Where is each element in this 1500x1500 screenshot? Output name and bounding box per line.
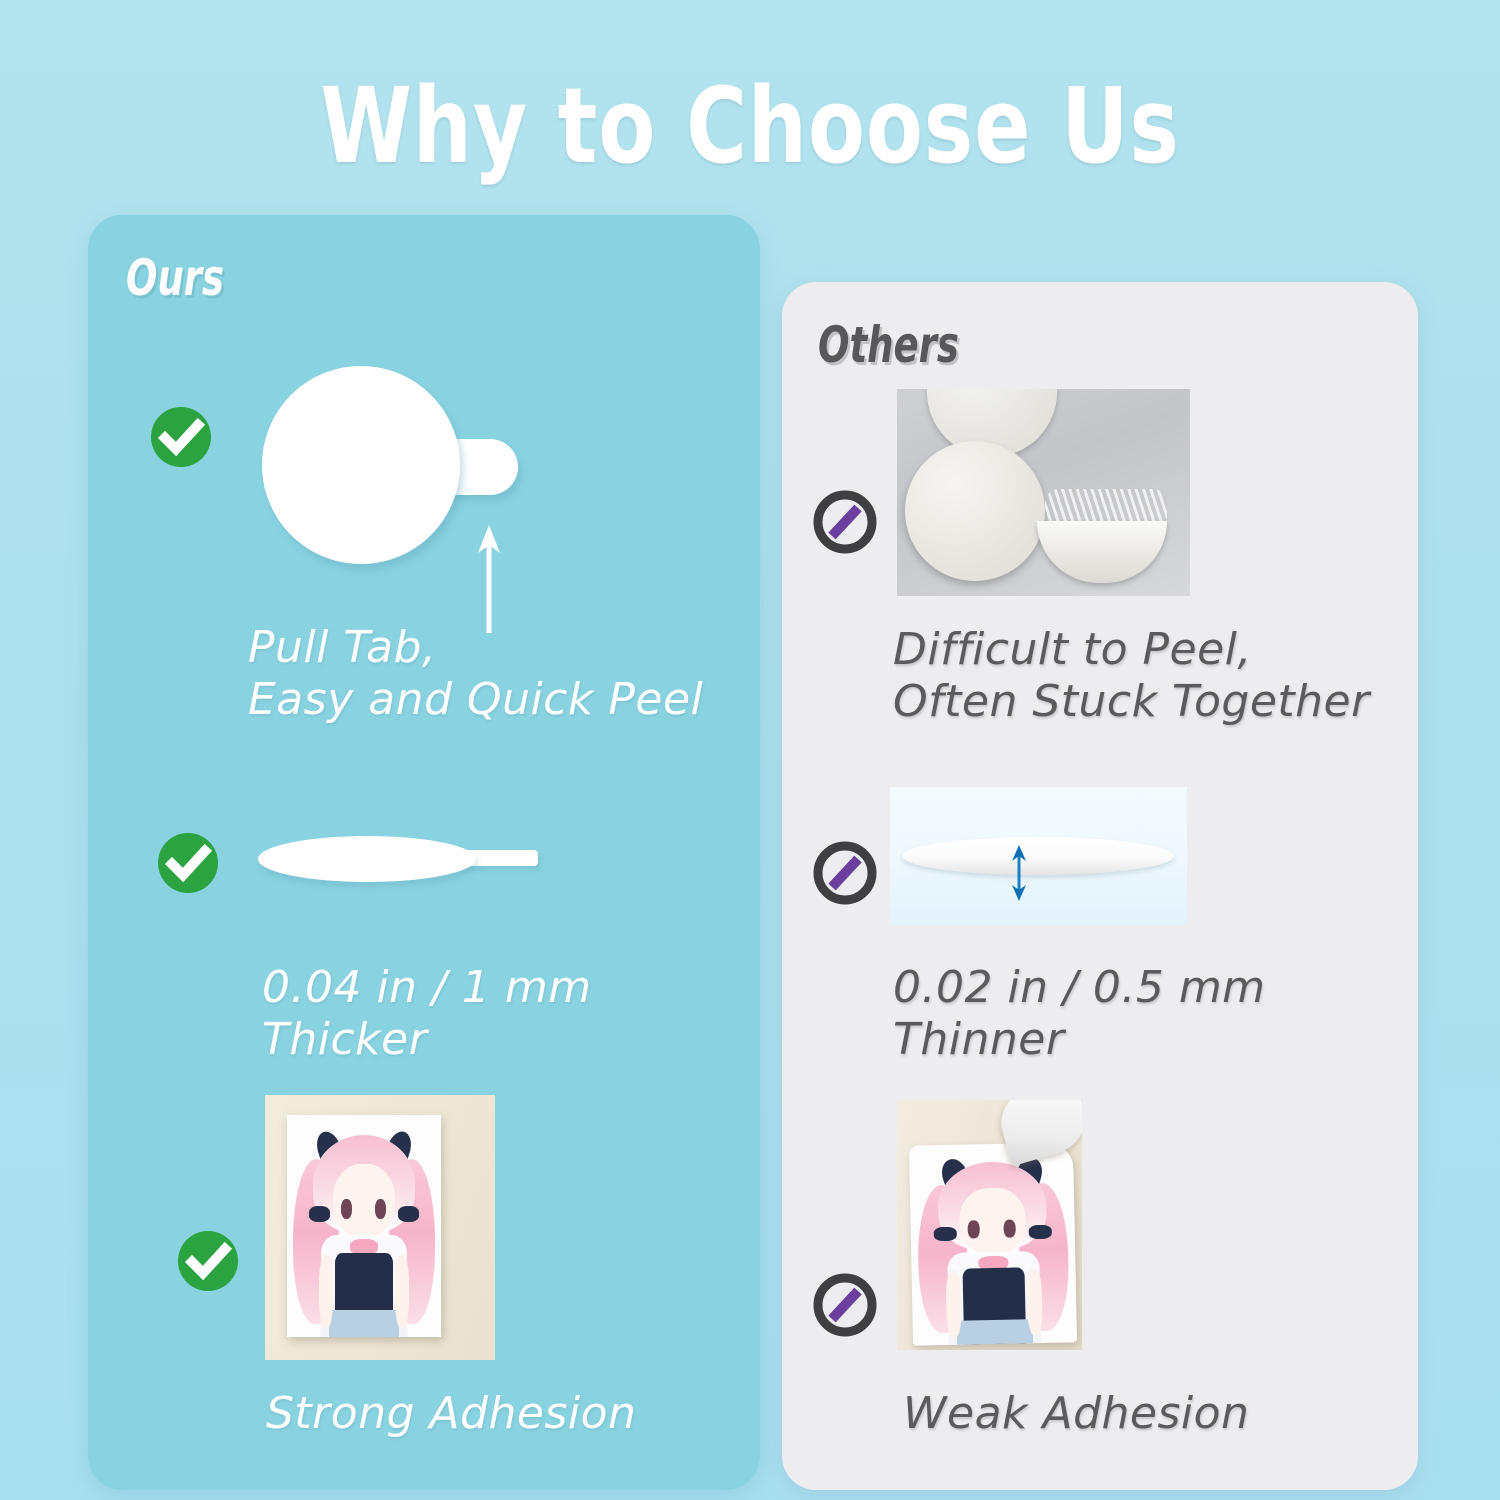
anime-girl-illustration <box>909 1142 1077 1345</box>
photo-stuck-sticker-discs <box>897 389 1190 596</box>
feature-text-strong-adhesion: Strong Adhesion <box>266 1388 636 1440</box>
anime-poster-peeling <box>909 1142 1077 1345</box>
card-label-others: Others <box>818 320 959 370</box>
no-entry-icon <box>812 489 878 555</box>
feature-text-ours-thickness: 0.04 in / 1 mm Thicker <box>262 962 592 1066</box>
curled-disc <box>1037 521 1167 583</box>
anime-poster-flat <box>287 1115 441 1337</box>
thick-disc-side-view-graphic <box>258 832 538 888</box>
no-entry-icon <box>812 840 878 906</box>
feature-text-pull-tab: Pull Tab, Easy and Quick Peel <box>248 622 703 726</box>
feature-text-others-thickness: 0.02 in / 0.5 mm Thinner <box>893 962 1266 1066</box>
check-circle-icon <box>175 1228 241 1294</box>
lens-body-shape <box>258 836 476 882</box>
check-circle-icon <box>148 404 214 470</box>
card-label-ours: Ours <box>126 253 224 303</box>
sticker-disc-shape <box>262 366 460 564</box>
page-title: Why to Choose Us <box>150 74 1350 178</box>
photo-thin-disc-measure <box>890 787 1187 925</box>
anime-girl-illustration <box>287 1115 441 1337</box>
photo-poster-flat-on-wall <box>265 1095 495 1360</box>
check-circle-icon <box>155 830 221 896</box>
pull-tab-pointer-arrow-icon <box>476 523 502 633</box>
stuck-disc-main <box>905 441 1045 581</box>
thickness-measure-arrow-icon <box>1010 845 1028 901</box>
feature-text-difficult-to-peel: Difficult to Peel, Often Stuck Together <box>893 624 1370 728</box>
photo-poster-peeling-off-wall <box>897 1100 1082 1350</box>
thin-disc-shape <box>902 837 1174 875</box>
feature-text-weak-adhesion: Weak Adhesion <box>903 1388 1249 1440</box>
no-entry-icon <box>812 1272 878 1338</box>
